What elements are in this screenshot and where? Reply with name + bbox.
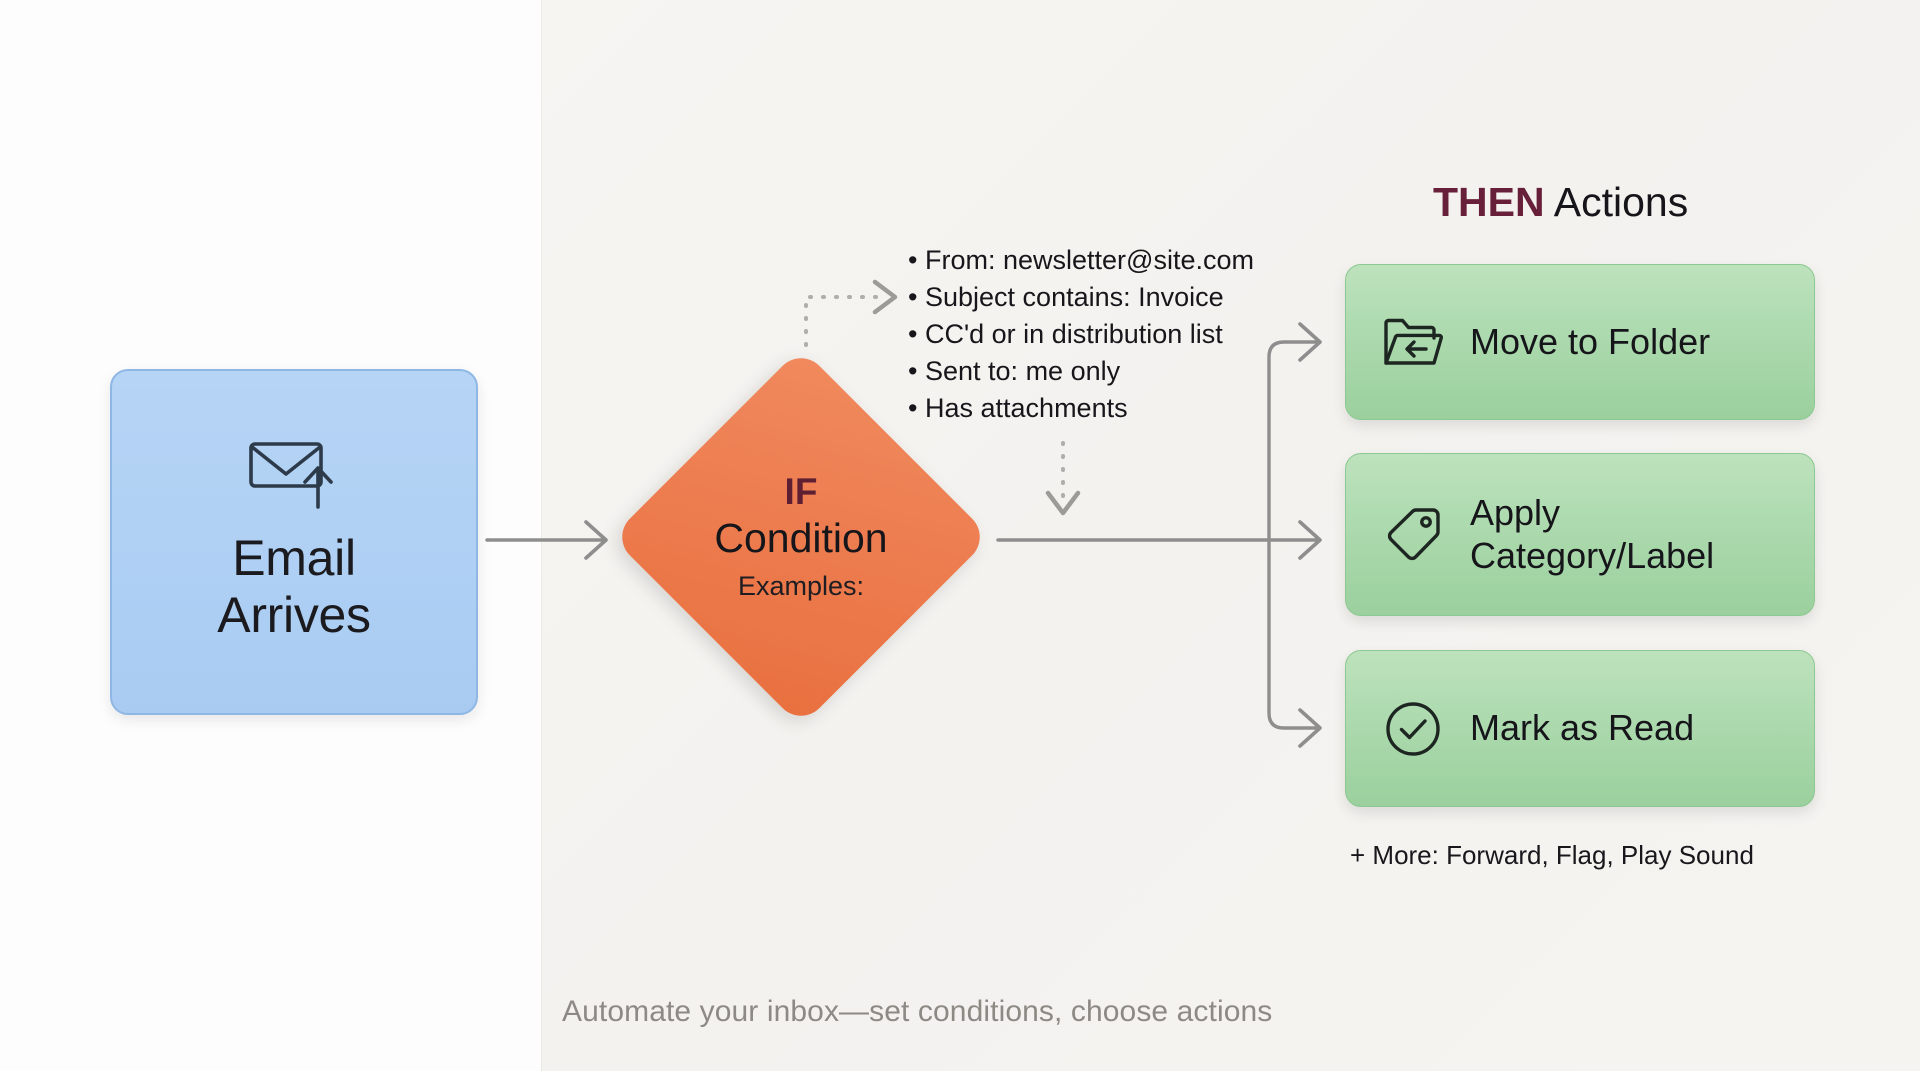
condition-example-text: From: newsletter@site.com (925, 245, 1254, 275)
check-circle-icon (1382, 698, 1444, 760)
action-apply-category-label[interactable]: Apply Category/Label (1345, 453, 1815, 616)
condition-example-text: Has attachments (925, 393, 1128, 423)
action-label: Mark as Read (1470, 707, 1694, 749)
condition-example-text: Subject contains: Invoice (925, 282, 1224, 312)
list-item: •Sent to: me only (908, 353, 1338, 390)
diagram-canvas: Email Arrives IF Condition Examples: •Fr… (0, 0, 1920, 1071)
action-label: Move to Folder (1470, 321, 1710, 363)
envelope-up-arrow-icon (248, 433, 340, 516)
then-keyword: THEN (1433, 179, 1545, 225)
email-arrives-label: Email Arrives (217, 530, 370, 644)
bullet-icon: • (908, 390, 925, 427)
action-mark-as-read[interactable]: Mark as Read (1345, 650, 1815, 807)
list-item: •Subject contains: Invoice (908, 279, 1338, 316)
diagram-caption: Automate your inbox—set conditions, choo… (562, 995, 1272, 1029)
condition-subtitle: Examples: (738, 570, 864, 602)
bullet-icon: • (908, 353, 925, 390)
folder-move-in-icon (1382, 311, 1444, 373)
condition-examples-list: •From: newsletter@site.com •Subject cont… (908, 242, 1338, 427)
bullet-icon: • (908, 316, 925, 353)
list-item: •CC'd or in distribution list (908, 316, 1338, 353)
actions-word: Actions (1545, 179, 1689, 225)
condition-title: Condition (714, 514, 887, 562)
list-item: •From: newsletter@site.com (908, 242, 1338, 279)
email-arrives-node[interactable]: Email Arrives (110, 369, 478, 715)
list-item: •Has attachments (908, 390, 1338, 427)
more-actions-note: + More: Forward, Flag, Play Sound (1350, 840, 1754, 871)
bullet-icon: • (908, 279, 925, 316)
action-move-to-folder[interactable]: Move to Folder (1345, 264, 1815, 420)
panel-divider (541, 0, 542, 1071)
if-keyword: IF (785, 472, 818, 513)
condition-example-text: Sent to: me only (925, 356, 1120, 386)
action-label: Apply Category/Label (1470, 492, 1714, 577)
condition-example-text: CC'd or in distribution list (925, 319, 1223, 349)
tag-icon (1382, 504, 1444, 566)
then-actions-heading: THEN Actions (1433, 182, 1688, 223)
bullet-icon: • (908, 242, 925, 279)
